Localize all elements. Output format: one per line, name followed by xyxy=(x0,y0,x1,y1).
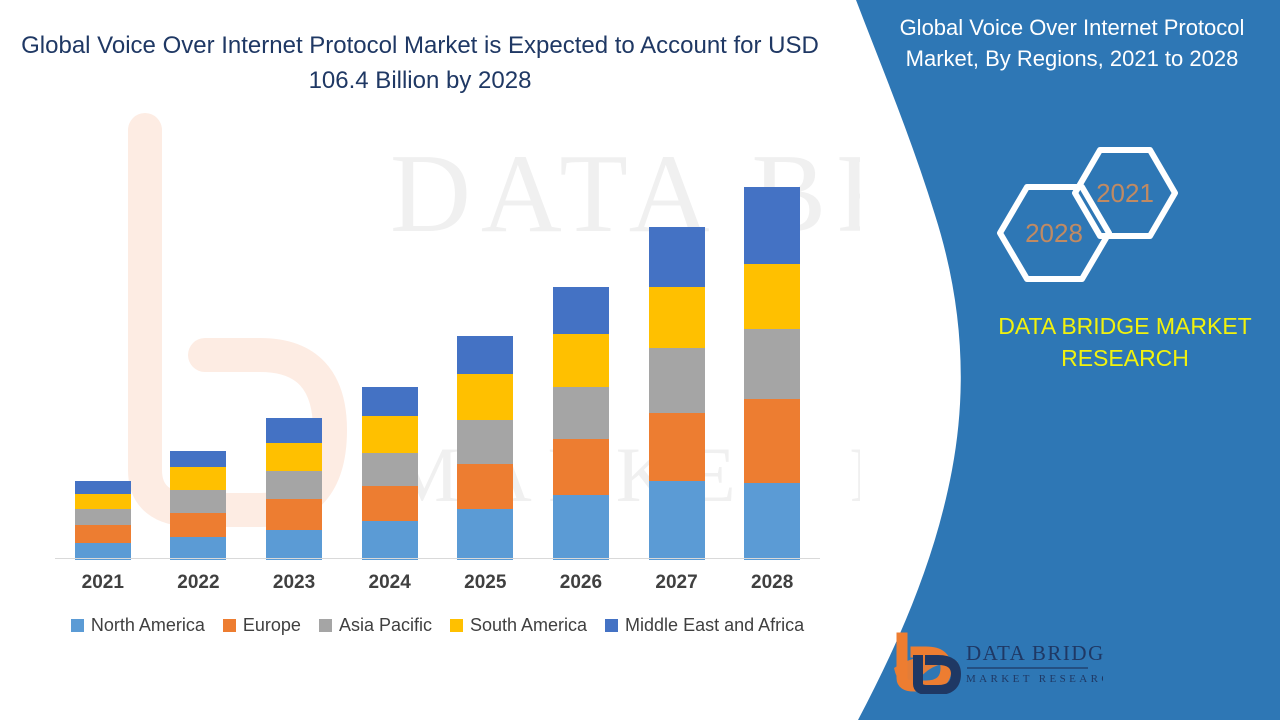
x-label-2027: 2027 xyxy=(632,572,722,594)
x-axis-line xyxy=(55,558,820,559)
bar-stack xyxy=(170,451,226,560)
x-label-2026: 2026 xyxy=(536,572,626,594)
bar-stack xyxy=(266,418,322,560)
legend-label: Asia Pacific xyxy=(339,615,432,636)
stacked-bar-chart xyxy=(55,160,820,560)
legend-item-europe[interactable]: Europe xyxy=(223,615,301,636)
bar-segment-south-america xyxy=(362,416,418,453)
hexagon-2028-icon: 2028 xyxy=(1000,187,1109,279)
legend-label: South America xyxy=(470,615,587,636)
bar-group-2025 xyxy=(457,162,513,560)
svg-text:DATA BRIDGE: DATA BRIDGE xyxy=(966,641,1103,665)
bar-segment-north-america xyxy=(649,481,705,560)
brand-name: DATA BRIDGE MARKET RESEARCH xyxy=(975,310,1275,374)
legend-label: Middle East and Africa xyxy=(625,615,804,636)
bar-segment-south-america xyxy=(553,334,609,387)
bar-segment-asia-pacific xyxy=(553,387,609,440)
svg-text:2028: 2028 xyxy=(1025,218,1083,248)
page-title: Global Voice Over Internet Protocol Mark… xyxy=(20,28,820,98)
legend-label: North America xyxy=(91,615,205,636)
legend-item-middle-east-and-africa[interactable]: Middle East and Africa xyxy=(605,615,804,636)
bar-segment-north-america xyxy=(744,483,800,560)
bar-segment-europe xyxy=(649,413,705,481)
bar-segment-middle-east-and-africa xyxy=(649,227,705,287)
legend-label: Europe xyxy=(243,615,301,636)
bar-segment-middle-east-and-africa xyxy=(553,287,609,334)
bar-segment-asia-pacific xyxy=(362,453,418,486)
brand-line-2: RESEARCH xyxy=(1061,345,1189,371)
bar-segment-south-america xyxy=(457,374,513,420)
bar-segment-north-america xyxy=(457,509,513,560)
legend-item-south-america[interactable]: South America xyxy=(450,615,587,636)
bar-segment-north-america xyxy=(553,495,609,560)
legend-swatch xyxy=(223,619,236,632)
bar-stack xyxy=(362,387,418,560)
bar-segment-north-america xyxy=(362,521,418,560)
bar-segment-south-america xyxy=(266,443,322,471)
bar-segment-middle-east-and-africa xyxy=(744,187,800,264)
x-label-2025: 2025 xyxy=(440,572,530,594)
bar-segment-europe xyxy=(170,513,226,538)
bar-segment-asia-pacific xyxy=(649,348,705,413)
bar-segment-middle-east-and-africa xyxy=(75,481,131,493)
bar-group-2027 xyxy=(649,162,705,560)
bar-segment-middle-east-and-africa xyxy=(170,451,226,467)
bar-group-2021 xyxy=(75,162,131,560)
bar-group-2026 xyxy=(553,162,609,560)
hexagon-badges: 2021 2028 xyxy=(985,145,1180,290)
bar-segment-europe xyxy=(744,399,800,483)
x-label-2023: 2023 xyxy=(249,572,339,594)
bar-segment-europe xyxy=(266,499,322,531)
bar-segment-north-america xyxy=(170,537,226,560)
bar-segment-south-america xyxy=(75,494,131,510)
bar-segment-south-america xyxy=(649,287,705,348)
x-label-2021: 2021 xyxy=(58,572,148,594)
bar-segment-south-america xyxy=(170,467,226,490)
data-bridge-logo-icon: DATA BRIDGE MARKET RESEARCH xyxy=(888,632,1103,694)
legend-swatch xyxy=(450,619,463,632)
hexagon-2021-icon: 2021 xyxy=(1075,150,1175,236)
legend-swatch xyxy=(605,619,618,632)
x-label-2028: 2028 xyxy=(727,572,817,594)
legend-item-north-america[interactable]: North America xyxy=(71,615,205,636)
infographic-page: DATA BRIDGE MARKET RESEARCH Global Voice… xyxy=(0,0,1280,720)
bar-segment-south-america xyxy=(744,264,800,329)
legend-item-asia-pacific[interactable]: Asia Pacific xyxy=(319,615,432,636)
bar-group-2022 xyxy=(170,162,226,560)
bar-stack xyxy=(75,481,131,560)
x-label-2022: 2022 xyxy=(153,572,243,594)
bar-segment-middle-east-and-africa xyxy=(457,336,513,375)
chart-legend: North AmericaEuropeAsia PacificSouth Ame… xyxy=(55,615,820,636)
bar-segment-europe xyxy=(75,525,131,543)
panel-title: Global Voice Over Internet Protocol Mark… xyxy=(872,12,1272,74)
bar-segment-asia-pacific xyxy=(266,471,322,499)
legend-swatch xyxy=(319,619,332,632)
bar-segment-europe xyxy=(362,486,418,521)
legend-swatch xyxy=(71,619,84,632)
bar-segment-asia-pacific xyxy=(744,329,800,399)
bar-stack xyxy=(457,336,513,560)
bar-stack xyxy=(744,187,800,560)
bar-segment-europe xyxy=(553,439,609,495)
bar-group-2028 xyxy=(744,162,800,560)
bar-group-2023 xyxy=(266,162,322,560)
bar-stack xyxy=(553,287,609,560)
bar-segment-north-america xyxy=(266,530,322,560)
bar-segment-asia-pacific xyxy=(457,420,513,464)
x-axis-labels: 20212022202320242025202620272028 xyxy=(55,572,820,602)
bar-segment-asia-pacific xyxy=(170,490,226,513)
svg-text:MARKET RESEARCH: MARKET RESEARCH xyxy=(966,673,1103,685)
bar-segment-asia-pacific xyxy=(75,509,131,525)
bar-segment-europe xyxy=(457,464,513,510)
brand-line-1: DATA BRIDGE MARKET xyxy=(998,313,1251,339)
bar-segment-middle-east-and-africa xyxy=(362,387,418,417)
bar-segment-middle-east-and-africa xyxy=(266,418,322,443)
svg-text:2021: 2021 xyxy=(1096,178,1154,208)
bar-stack xyxy=(649,227,705,560)
x-label-2024: 2024 xyxy=(345,572,435,594)
bar-group-2024 xyxy=(362,162,418,560)
